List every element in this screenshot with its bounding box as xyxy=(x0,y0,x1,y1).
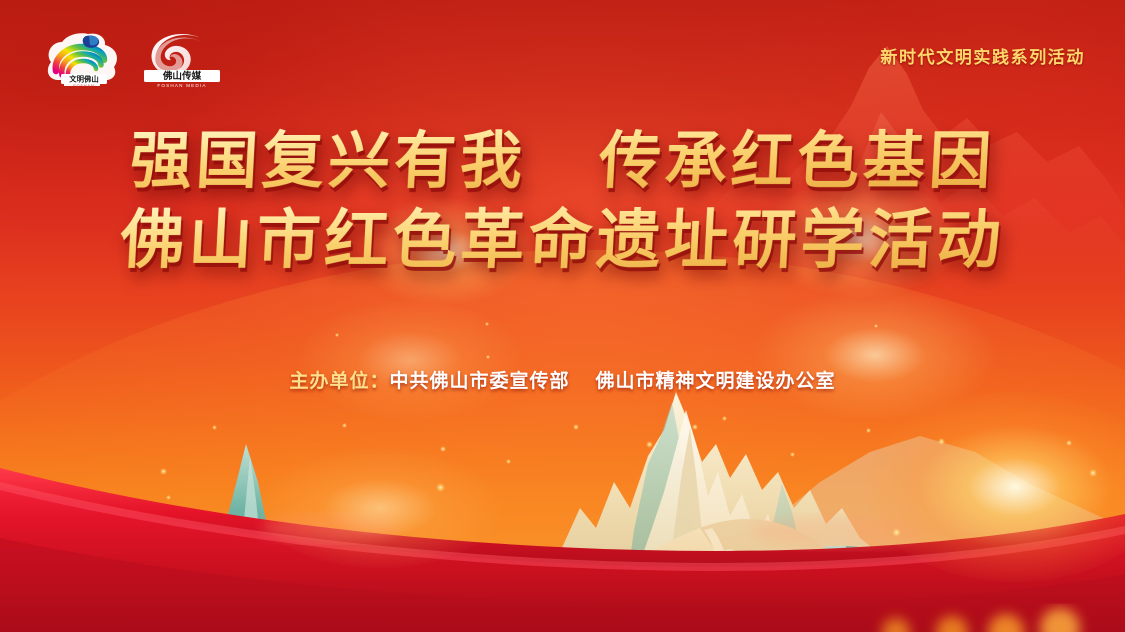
sparkle-icon xyxy=(892,528,901,537)
sparkle-icon xyxy=(573,424,579,430)
wenming-foshan-logo: 文明佛山 FOSHAN xyxy=(44,31,122,89)
background-radial-lighting xyxy=(0,0,1125,632)
organiser-line: 主办单位：中共佛山市委宣传部佛山市精神文明建设办公室 xyxy=(0,366,1125,393)
main-title-part-a: 强国复兴有我 xyxy=(128,128,528,196)
sparkle-icon xyxy=(722,416,727,421)
wenming-foshan-logo-cn: 文明佛山 xyxy=(69,75,99,84)
poster-canvas: 文明佛山 FOSHAN 佛山传媒 FOSHA xyxy=(0,0,1125,632)
logo-group: 文明佛山 FOSHAN 佛山传媒 FOSHA xyxy=(44,30,224,90)
peak-teal-tall xyxy=(200,444,290,632)
ridge-cream-left xyxy=(150,546,350,632)
sparkle-icon xyxy=(874,324,878,328)
glow-left-icon xyxy=(260,448,500,568)
main-title-part-b: 传承红色基因 xyxy=(597,128,997,196)
cloud-cluster-left xyxy=(0,500,368,628)
light-flare-icon xyxy=(300,300,520,420)
hill-teal-right xyxy=(700,546,980,632)
sparkle-icon xyxy=(485,322,489,326)
background-curved-swoosh xyxy=(0,250,1125,632)
dune-right xyxy=(560,519,900,632)
red-ribbon xyxy=(0,468,1125,632)
sparkle-icon xyxy=(866,428,871,433)
title-block: 强国复兴有我 传承红色基因 佛山市红色革命遗址研学活动 xyxy=(0,128,1125,279)
sparkle-icon xyxy=(342,423,347,428)
main-title-line-1: 强国复兴有我 传承红色基因 xyxy=(0,128,1125,197)
main-title-line-2: 佛山市红色革命遗址研学活动 xyxy=(0,203,1125,279)
wenming-foshan-logo-icon: 文明佛山 FOSHAN xyxy=(44,31,122,89)
sparkle-icon xyxy=(160,468,167,475)
mist-streak xyxy=(540,602,760,632)
organiser-value-2: 佛山市精神文明建设办公室 xyxy=(596,371,836,392)
glow-right-icon xyxy=(865,392,1125,582)
sparkle-icon xyxy=(646,441,653,448)
foshan-media-logo: 佛山传媒 FOSHAN MEDIA xyxy=(140,30,224,90)
distant-ridge xyxy=(760,436,1125,632)
sparkle-icon xyxy=(1066,440,1072,446)
organiser-label: 主办单位： xyxy=(289,371,389,392)
sparkle-icon xyxy=(938,438,945,445)
sparkle-icon xyxy=(790,452,795,457)
sparkle-icon xyxy=(212,425,217,430)
foshan-media-logo-en: FOSHAN MEDIA xyxy=(157,83,206,88)
cloud-cluster-right xyxy=(896,567,1125,632)
foshan-media-logo-icon: 佛山传媒 FOSHAN MEDIA xyxy=(140,30,224,90)
foshan-media-logo-cn: 佛山传媒 xyxy=(162,70,202,82)
bokeh-band xyxy=(0,568,1125,632)
campaign-tag: 新时代文明实践系列活动 xyxy=(880,43,1085,68)
sparkle-icon xyxy=(1089,469,1097,477)
sparkle-icon xyxy=(692,424,698,430)
ridge-cream-right xyxy=(620,410,900,632)
sparkle-icon xyxy=(436,483,445,492)
ribbon-glint xyxy=(750,516,930,548)
sparkle-icon xyxy=(440,446,446,452)
sparkle-icon xyxy=(166,495,171,500)
sparkle-icon xyxy=(335,333,339,337)
organiser-value-1: 中共佛山市委宣传部 xyxy=(389,371,569,392)
light-flare-icon xyxy=(755,290,995,420)
ridge-cream-mid xyxy=(290,530,474,632)
sparkle-icon xyxy=(506,459,511,464)
ribbon-glint xyxy=(260,514,400,542)
cloud-swirl-group xyxy=(704,550,832,625)
sparkle-icon xyxy=(486,355,490,359)
wenming-foshan-logo-en: FOSHAN xyxy=(73,84,94,88)
mountain-cluster-center xyxy=(150,392,1125,632)
